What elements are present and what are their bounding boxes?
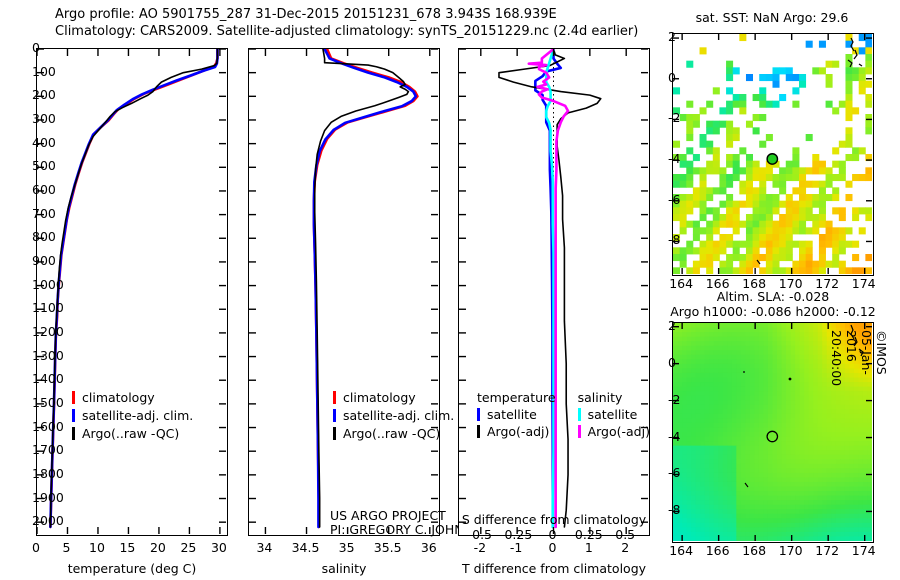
sst-map-title: sat. SST: NaN Argo: 29.6 [672,10,872,25]
tick-label: 35 [339,540,355,555]
legend-item-satellite-adj-sal: satellite-adj. clim. [333,408,454,423]
legend-item-argo-raw: Argo(..raw -QC) [72,426,193,441]
figure-title: Argo profile: AO 5901755_287 31-Dec-2015… [55,6,638,40]
legend-swatch-climatology-sal [333,391,336,404]
legend-swatch-sal-argo [578,425,581,438]
sla-map-title-line2: Argo h1000: -0.086 h2000: -0.12 [662,304,884,319]
tick-label: 0 [549,540,557,555]
tick-label: 166 [706,543,730,558]
tick-label: 164 [669,543,693,558]
difference-plot-canvas [459,49,648,534]
legend-item-argo-raw-sal: Argo(..raw -QC) [333,426,454,441]
sst-map-canvas [673,34,872,274]
temperature-x-axis-label: temperature (deg C) [36,561,228,576]
legend-item-temp-satellite: satellite [477,405,568,422]
salinity-plot-canvas [249,49,438,534]
tick-label: 10 [89,540,105,555]
imos-credit: ©IMOS 05-Jan-2016 20:40:00 [829,330,889,386]
title-line-2: Climatology: CARS2009. Satellite-adjuste… [55,23,638,40]
legend-swatch-argo-raw [72,427,75,440]
tick-label: 0 [32,540,40,555]
tick-label: 36 [421,540,437,555]
tick-label: 168 [742,543,766,558]
tick-label: 30 [211,540,227,555]
salinity-x-axis-label: salinity [248,561,440,576]
tick-label: 34.5 [292,540,320,555]
tick-label: 170 [779,543,803,558]
legend-swatch-temp-satellite [477,408,480,421]
salinity-legend: climatology satellite-adj. clim. Argo(..… [333,390,454,441]
difference-legend: temperature salinity satellite satellite… [477,390,650,439]
difference-top-axis-label: S difference from climatology [458,512,650,527]
legend-header-salinity: salinity [568,390,650,405]
tick-label: 15 [119,540,135,555]
temperature-panel[interactable] [36,48,228,536]
legend-swatch-argo-raw-sal [333,427,336,440]
legend-swatch-climatology [72,391,75,404]
legend-item-climatology: climatology [72,390,193,405]
legend-swatch-sal-satellite [578,408,581,421]
legend-item-satellite-adj: satellite-adj. clim. [72,408,193,423]
tick-label: 20 [150,540,166,555]
legend-item-climatology-sal: climatology [333,390,454,405]
legend-item-temp-argo: Argo(-adj) [477,422,568,439]
sst-map-panel[interactable] [672,33,874,276]
tick-label: 35.5 [374,540,402,555]
tick-label: 172 [815,543,839,558]
legend-item-sal-argo: Argo(-adj) [568,422,650,439]
temperature-plot-canvas [37,49,226,534]
tick-label: 34 [256,540,272,555]
tick-label: 5 [62,540,70,555]
difference-panel[interactable] [458,48,650,536]
sla-map-title-line1: Altim. SLA: -0.028 [672,289,874,304]
us-argo-project-label: US ARGO PROJECT [330,508,446,523]
temperature-legend: climatology satellite-adj. clim. Argo(..… [72,390,193,441]
salinity-panel[interactable] [248,48,440,536]
tick-label: 1 [585,540,593,555]
legend-header-temperature: temperature [477,390,568,405]
difference-bottom-axis-label: T difference from climatology [450,561,658,576]
legend-swatch-satellite-adj [72,409,75,422]
tick-label: -2 [474,540,486,555]
legend-swatch-satellite-adj-sal [333,409,336,422]
tick-label: 2 [621,540,629,555]
tick-label: 174 [852,543,876,558]
legend-swatch-temp-argo [477,425,480,438]
tick-label: -1 [510,540,522,555]
title-line-1: Argo profile: AO 5901755_287 31-Dec-2015… [55,6,638,23]
tick-label: 25 [180,540,196,555]
legend-item-sal-satellite: satellite [568,405,650,422]
